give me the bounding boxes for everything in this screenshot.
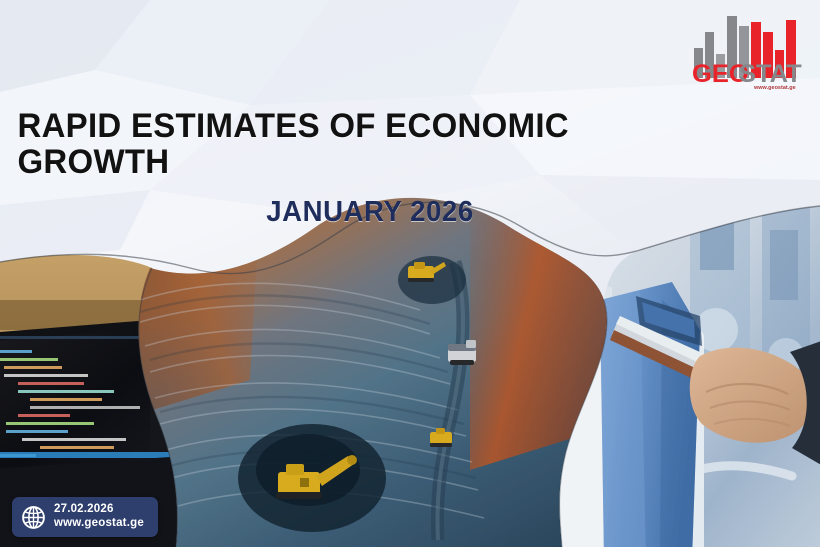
badge-url: www.geostat.ge: [54, 517, 144, 531]
geostat-wordmark: GEO STAT www.geostat.ge: [692, 60, 802, 90]
svg-text:www.geostat.ge: www.geostat.ge: [753, 85, 796, 90]
svg-text:STAT: STAT: [739, 60, 802, 88]
badge-date: 27.02.2026: [54, 503, 144, 517]
globe-icon: [21, 505, 46, 530]
geostat-logo[interactable]: GEO STAT www.geostat.ge: [690, 6, 806, 90]
date-url-badge[interactable]: 27.02.2026 www.geostat.ge: [12, 497, 158, 537]
poster-canvas: RAPID ESTIMATES OF ECONOMIC GROWTH JANUA…: [0, 0, 820, 547]
